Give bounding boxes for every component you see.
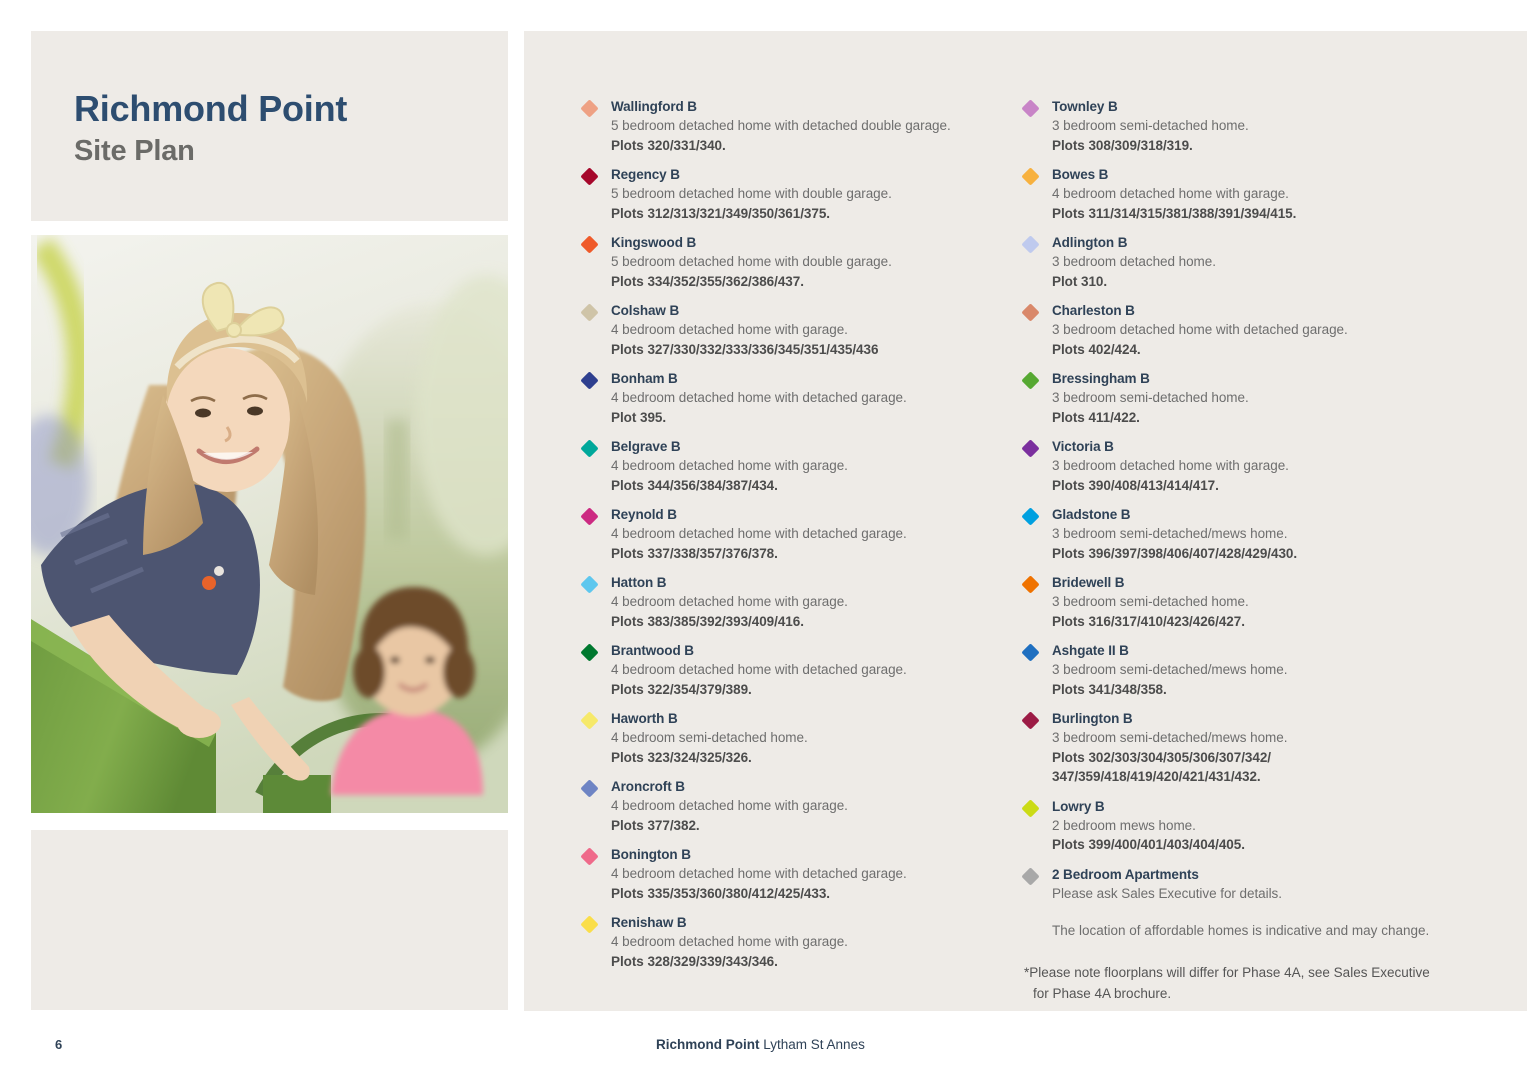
- legend-item[interactable]: 2 Bedroom Apartments Please ask Sales Ex…: [1024, 865, 1469, 904]
- legend-item[interactable]: Adlington B 3 bedroom detached home. Plo…: [1024, 233, 1469, 291]
- legend-item-plots: Plots 323/324/325/326.: [611, 748, 1003, 768]
- diamond-marker-icon: [580, 711, 598, 729]
- legend-item-desc: 3 bedroom semi-detached home.: [1052, 592, 1469, 612]
- diamond-marker-icon: [580, 847, 598, 865]
- legend-item-name: Renishaw B: [611, 913, 1003, 932]
- legend-item[interactable]: Bonham B 4 bedroom detached home with de…: [583, 369, 1003, 427]
- legend-item-desc: 4 bedroom detached home with detached ga…: [611, 660, 1003, 680]
- legend-item-name: Aroncroft B: [611, 777, 1003, 796]
- legend-item[interactable]: Townley B 3 bedroom semi-detached home. …: [1024, 97, 1469, 155]
- diamond-marker-icon: [1021, 799, 1039, 817]
- legend-item-desc: 3 bedroom detached home with detached ga…: [1052, 320, 1469, 340]
- legend-item-desc: 5 bedroom detached home with detached do…: [611, 116, 1003, 136]
- blank-panel: [31, 830, 508, 1010]
- legend-item-name: Bridewell B: [1052, 573, 1469, 592]
- footer-location: Lytham St Annes: [763, 1037, 865, 1052]
- legend-item[interactable]: Brantwood B 4 bedroom detached home with…: [583, 641, 1003, 699]
- legend-item-name: Reynold B: [611, 505, 1003, 524]
- legend-item[interactable]: Victoria B 3 bedroom detached home with …: [1024, 437, 1469, 495]
- diamond-marker-icon: [1021, 303, 1039, 321]
- legend-item[interactable]: Aroncroft B 4 bedroom detached home with…: [583, 777, 1003, 835]
- legend-item-desc: 4 bedroom detached home with detached ga…: [611, 524, 1003, 544]
- diamond-marker-icon: [580, 915, 598, 933]
- legend-item-name: Lowry B: [1052, 797, 1469, 816]
- legend-item-plots: Plots 320/331/340.: [611, 136, 1003, 156]
- legend-item-plots: Plots 399/400/401/403/404/405.: [1052, 835, 1469, 855]
- legend-item-name: Belgrave B: [611, 437, 1003, 456]
- legend-item-desc: 4 bedroom detached home with garage.: [611, 592, 1003, 612]
- legend-item-desc: 4 bedroom semi-detached home.: [611, 728, 1003, 748]
- legend-item[interactable]: Ashgate II B 3 bedroom semi-detached/mew…: [1024, 641, 1469, 699]
- legend-item-plots: Plots 335/353/360/380/412/425/433.: [611, 884, 1003, 904]
- legend-item-plots: Plots 341/348/358.: [1052, 680, 1469, 700]
- footnote-line-1: *Please note floorplans will differ for …: [1024, 965, 1430, 980]
- legend-item-name: Gladstone B: [1052, 505, 1469, 524]
- legend-item[interactable]: Reynold B 4 bedroom detached home with d…: [583, 505, 1003, 563]
- children-playground-photo-illustration: [31, 235, 508, 813]
- diamond-marker-icon: [580, 371, 598, 389]
- legend-item-name: 2 Bedroom Apartments: [1052, 865, 1469, 884]
- legend-item-name: Hatton B: [611, 573, 1003, 592]
- legend-item[interactable]: Gladstone B 3 bedroom semi-detached/mews…: [1024, 505, 1469, 563]
- hero-photo: [31, 235, 508, 813]
- legend-item-desc: Please ask Sales Executive for details.: [1052, 884, 1469, 904]
- legend-item-desc: 4 bedroom detached home with detached ga…: [611, 388, 1003, 408]
- legend-item-name: Haworth B: [611, 709, 1003, 728]
- legend-item-desc: 3 bedroom semi-detached home.: [1052, 116, 1469, 136]
- legend-item-plots: Plots 334/352/355/362/386/437.: [611, 272, 1003, 292]
- legend-item-plots: Plots 312/313/321/349/350/361/375.: [611, 204, 1003, 224]
- legend-column-right: Townley B 3 bedroom semi-detached home. …: [1024, 97, 1469, 1004]
- legend-item-desc: 3 bedroom semi-detached/mews home.: [1052, 728, 1469, 748]
- legend-item-plots: Plots 308/309/318/319.: [1052, 136, 1469, 156]
- legend-item-plots: Plots 390/408/413/414/417.: [1052, 476, 1469, 496]
- legend-item[interactable]: Regency B 5 bedroom detached home with d…: [583, 165, 1003, 223]
- legend-item[interactable]: Burlington B 3 bedroom semi-detached/mew…: [1024, 709, 1469, 787]
- legend-panel: Wallingford B 5 bedroom detached home wi…: [524, 31, 1527, 1011]
- legend-item-plots: Plots 327/330/332/333/336/345/351/435/43…: [611, 340, 1003, 360]
- legend-item[interactable]: Bonington B 4 bedroom detached home with…: [583, 845, 1003, 903]
- diamond-marker-icon: [580, 167, 598, 185]
- legend-item[interactable]: Kingswood B 5 bedroom detached home with…: [583, 233, 1003, 291]
- legend-item-desc: 5 bedroom detached home with double gara…: [611, 184, 1003, 204]
- diamond-marker-icon: [580, 235, 598, 253]
- legend-item[interactable]: Lowry B 2 bedroom mews home. Plots 399/4…: [1024, 797, 1469, 855]
- legend-item-desc: 5 bedroom detached home with double gara…: [611, 252, 1003, 272]
- legend-item-name: Townley B: [1052, 97, 1469, 116]
- legend-item-plots: Plots 322/354/379/389.: [611, 680, 1003, 700]
- legend-item-plots: Plots 337/338/357/376/378.: [611, 544, 1003, 564]
- legend-item-name: Victoria B: [1052, 437, 1469, 456]
- footnote-line-2: for Phase 4A brochure.: [1024, 983, 1469, 1004]
- legend-item-desc: 2 bedroom mews home.: [1052, 816, 1469, 836]
- legend-item[interactable]: Haworth B 4 bedroom semi-detached home. …: [583, 709, 1003, 767]
- diamond-marker-icon: [580, 643, 598, 661]
- diamond-marker-icon: [1021, 711, 1039, 729]
- legend-item-desc: 4 bedroom detached home with garage.: [611, 932, 1003, 952]
- legend-item-desc: 3 bedroom semi-detached home.: [1052, 388, 1469, 408]
- legend-item-desc: 3 bedroom semi-detached/mews home.: [1052, 524, 1469, 544]
- legend-item-desc: 4 bedroom detached home with garage.: [611, 320, 1003, 340]
- legend-item-name: Bonham B: [611, 369, 1003, 388]
- legend-column-left: Wallingford B 5 bedroom detached home wi…: [583, 97, 1003, 981]
- legend-item-plots: Plot 395.: [611, 408, 1003, 428]
- legend-item-plots: Plots 328/329/339/343/346.: [611, 952, 1003, 972]
- legend-item[interactable]: Wallingford B 5 bedroom detached home wi…: [583, 97, 1003, 155]
- page-footer: 6 Richmond Point Lytham St Annes: [0, 1032, 1527, 1062]
- left-column: Richmond Point Site Plan: [31, 31, 508, 1011]
- diamond-marker-icon: [1021, 439, 1039, 457]
- legend-item-desc: 4 bedroom detached home with garage.: [611, 456, 1003, 476]
- diamond-marker-icon: [580, 439, 598, 457]
- phase-4a-footnote: *Please note floorplans will differ for …: [1024, 962, 1469, 1004]
- footer-development-name: Richmond Point: [656, 1037, 760, 1052]
- legend-item-name: Bonington B: [611, 845, 1003, 864]
- diamond-marker-icon: [1021, 867, 1039, 885]
- legend-item-name: Kingswood B: [611, 233, 1003, 252]
- legend-item-plots: Plots 311/314/315/381/388/391/394/415.: [1052, 204, 1469, 224]
- legend-item-desc: 3 bedroom semi-detached/mews home.: [1052, 660, 1469, 680]
- legend-item-name: Burlington B: [1052, 709, 1469, 728]
- legend-item-name: Wallingford B: [611, 97, 1003, 116]
- legend-item[interactable]: Colshaw B 4 bedroom detached home with g…: [583, 301, 1003, 359]
- legend-item[interactable]: Bressingham B 3 bedroom semi-detached ho…: [1024, 369, 1469, 427]
- legend-item-plots: Plots 316/317/410/423/426/427.: [1052, 612, 1469, 632]
- legend-item-plots: Plots 402/424.: [1052, 340, 1469, 360]
- title-panel: Richmond Point Site Plan: [31, 31, 508, 221]
- diamond-marker-icon: [1021, 575, 1039, 593]
- legend-item[interactable]: Hatton B 4 bedroom detached home with ga…: [583, 573, 1003, 631]
- legend-item-plots: Plots 411/422.: [1052, 408, 1469, 428]
- diamond-marker-icon: [1021, 371, 1039, 389]
- footer-development-label: Richmond Point Lytham St Annes: [656, 1037, 865, 1052]
- diamond-marker-icon: [580, 779, 598, 797]
- diamond-marker-icon: [580, 303, 598, 321]
- legend-item-plots: Plots 383/385/392/393/409/416.: [611, 612, 1003, 632]
- legend-item[interactable]: Bowes B 4 bedroom detached home with gar…: [1024, 165, 1469, 223]
- page-number: 6: [55, 1037, 62, 1052]
- diamond-marker-icon: [1021, 167, 1039, 185]
- legend-item[interactable]: Bridewell B 3 bedroom semi-detached home…: [1024, 573, 1469, 631]
- legend-item[interactable]: Renishaw B 4 bedroom detached home with …: [583, 913, 1003, 971]
- legend-item-name: Colshaw B: [611, 301, 1003, 320]
- legend-item-plots: Plots 377/382.: [611, 816, 1003, 836]
- diamond-marker-icon: [580, 507, 598, 525]
- legend-item-name: Charleston B: [1052, 301, 1469, 320]
- legend-item[interactable]: Belgrave B 4 bedroom detached home with …: [583, 437, 1003, 495]
- legend-item-plots-line2: 347/359/418/419/420/421/431/432.: [1052, 767, 1469, 787]
- legend-item-plots: Plots 344/356/384/387/434.: [611, 476, 1003, 496]
- diamond-marker-icon: [1021, 507, 1039, 525]
- legend-item-plots: Plot 310.: [1052, 272, 1469, 292]
- legend-item-desc: 3 bedroom detached home.: [1052, 252, 1469, 272]
- diamond-marker-icon: [1021, 643, 1039, 661]
- legend-item-name: Bressingham B: [1052, 369, 1469, 388]
- legend-item-plots: Plots 396/397/398/406/407/428/429/430.: [1052, 544, 1469, 564]
- affordable-homes-note: The location of affordable homes is indi…: [1024, 921, 1469, 941]
- legend-item-name: Ashgate II B: [1052, 641, 1469, 660]
- legend-item-desc: 4 bedroom detached home with garage.: [611, 796, 1003, 816]
- legend-item-desc: 4 bedroom detached home with detached ga…: [611, 864, 1003, 884]
- diamond-marker-icon: [1021, 99, 1039, 117]
- diamond-marker-icon: [580, 575, 598, 593]
- diamond-marker-icon: [580, 99, 598, 117]
- legend-item-plots: Plots 302/303/304/305/306/307/342/: [1052, 748, 1469, 768]
- legend-item-name: Brantwood B: [611, 641, 1003, 660]
- page-title: Richmond Point: [74, 88, 347, 130]
- page-subtitle: Site Plan: [74, 135, 195, 168]
- legend-item-desc: 3 bedroom detached home with garage.: [1052, 456, 1469, 476]
- legend-item-name: Bowes B: [1052, 165, 1469, 184]
- legend-item-name: Regency B: [611, 165, 1003, 184]
- legend-item[interactable]: Charleston B 3 bedroom detached home wit…: [1024, 301, 1469, 359]
- legend-item-name: Adlington B: [1052, 233, 1469, 252]
- diamond-marker-icon: [1021, 235, 1039, 253]
- legend-item-desc: 4 bedroom detached home with garage.: [1052, 184, 1469, 204]
